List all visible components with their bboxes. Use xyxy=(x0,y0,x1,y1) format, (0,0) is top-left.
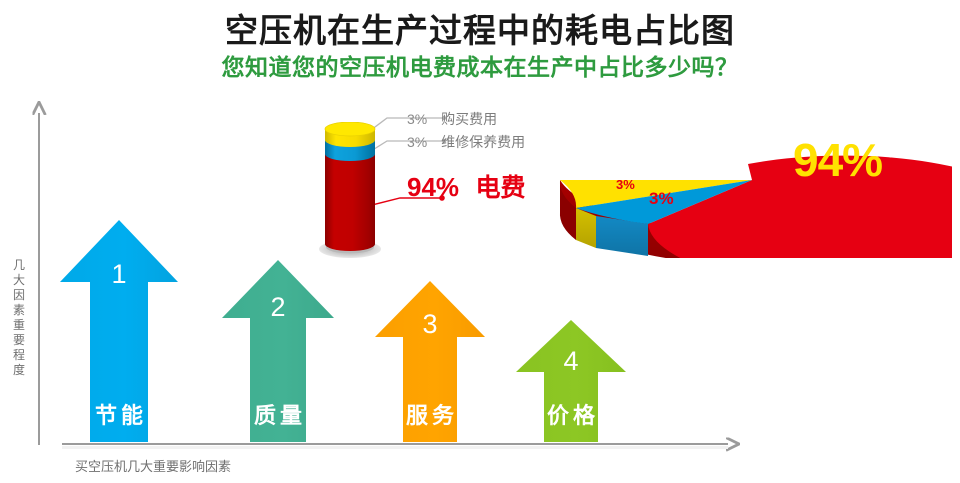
infographic-canvas: 空压机在生产过程中的耗电占比图 您知道您的空压机电费成本在生产中占比多少吗？ 几… xyxy=(0,0,960,483)
callout-maintenance-pct: 3% xyxy=(407,134,427,150)
pie-label-main: 94% xyxy=(793,133,882,187)
callout-electricity: 94% 电费 xyxy=(407,168,526,204)
callout-electricity-pct: 94% xyxy=(407,172,459,202)
callout-maintenance-label: 维修保养费用 xyxy=(441,134,525,150)
pie-label-yellow: 3% xyxy=(616,177,635,192)
cylinder-chart xyxy=(312,122,378,252)
pie-chart: 3% 3% xyxy=(552,108,952,258)
callout-maintenance: 3% 维修保养费用 xyxy=(407,132,525,152)
callout-electricity-label: 电费 xyxy=(476,174,526,202)
callout-purchase-label: 购买费用 xyxy=(441,111,497,127)
callout-purchase: 3% 购买费用 xyxy=(407,109,497,129)
callout-purchase-pct: 3% xyxy=(407,111,427,127)
pie-label-blue: 3% xyxy=(649,189,674,208)
